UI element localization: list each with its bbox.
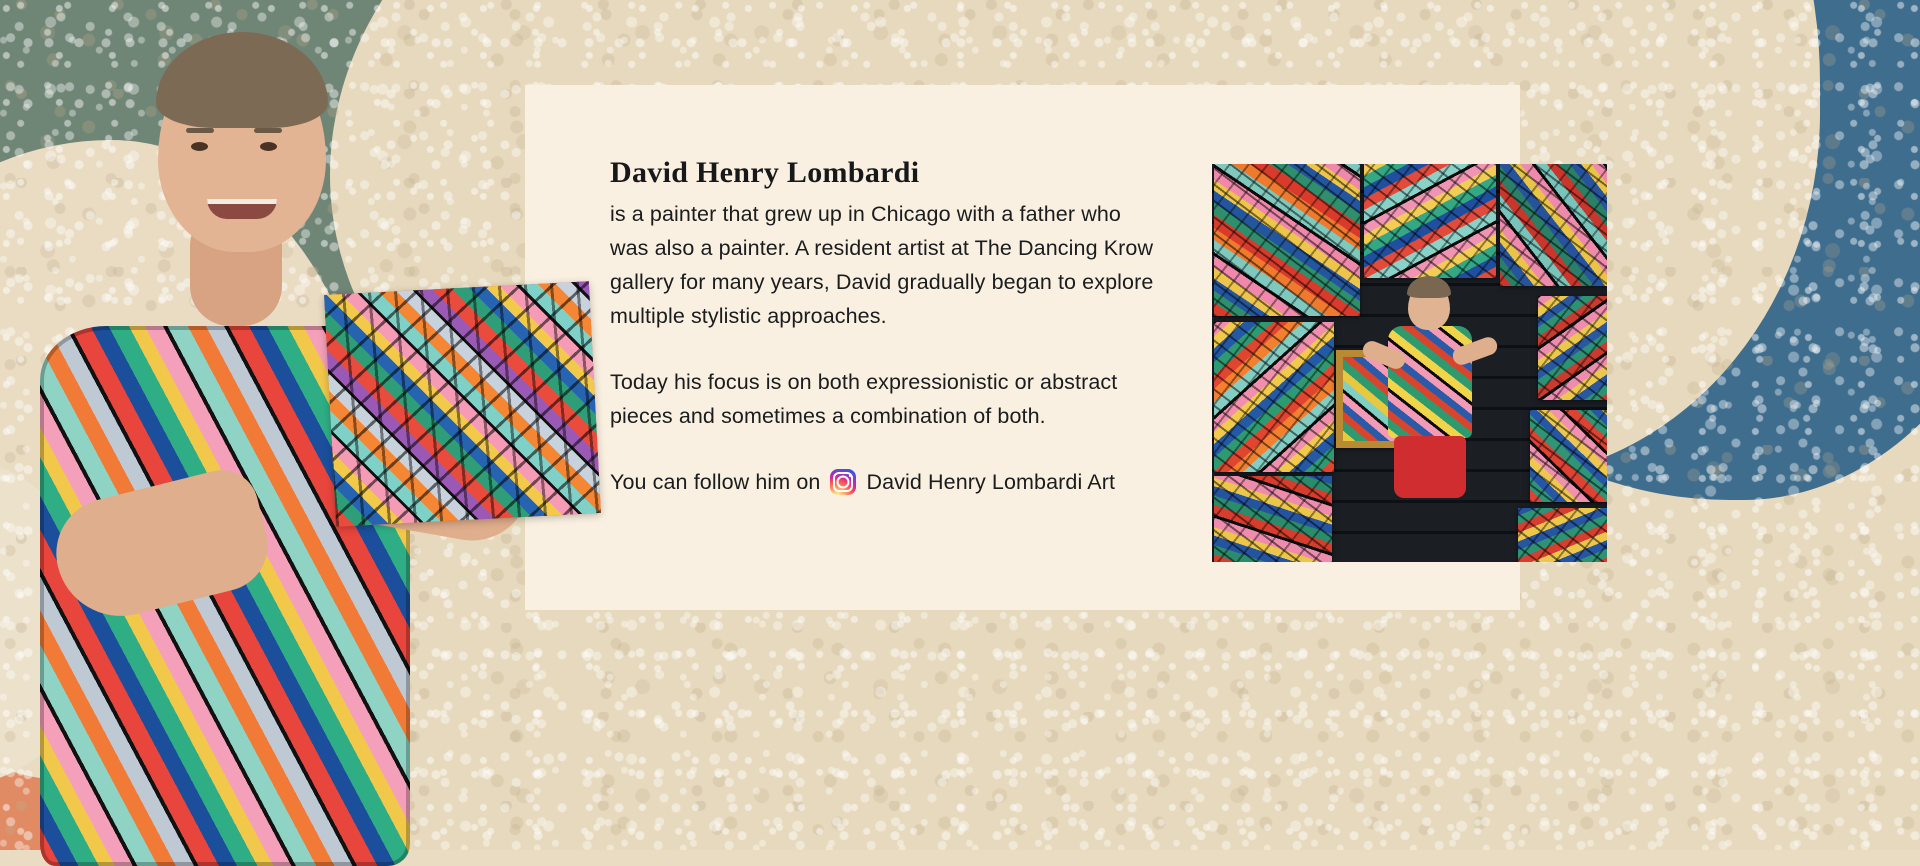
gallery-artwork — [1364, 164, 1496, 278]
instagram-follow-line: You can follow him on David Henry Lombar… — [610, 465, 1155, 499]
bio-paragraph-1: is a painter that grew up in Chicago wit… — [610, 197, 1155, 333]
held-painting-artwork — [324, 281, 601, 527]
gallery-artwork — [1500, 164, 1607, 286]
artist-eye-right — [260, 142, 277, 151]
gallery-artist-shorts — [1394, 436, 1466, 498]
gallery-artwork — [1530, 410, 1607, 502]
gallery-artist-shirt — [1388, 326, 1472, 438]
follow-prefix-label: You can follow him on — [610, 465, 820, 499]
artist-hair — [156, 32, 328, 128]
gallery-photo — [1212, 164, 1607, 562]
instagram-icon-lens — [837, 476, 850, 489]
instagram-icon[interactable] — [830, 469, 856, 495]
artist-mouth — [207, 199, 277, 219]
instagram-handle-link[interactable]: David Henry Lombardi Art — [866, 465, 1115, 499]
gallery-artwork — [1214, 164, 1360, 316]
artist-eye-left — [191, 142, 208, 151]
gallery-artwork — [1518, 508, 1607, 562]
artist-eyebrow-right — [254, 128, 282, 133]
gallery-artwork — [1538, 296, 1607, 400]
artist-eyebrow-left — [186, 128, 214, 133]
bio-card-content: David Henry Lombardi is a painter that g… — [610, 155, 1155, 499]
gallery-artwork — [1214, 476, 1332, 562]
page-title: David Henry Lombardi — [610, 155, 1155, 191]
gallery-artwork — [1214, 322, 1334, 472]
bio-paragraph-2: Today his focus is on both expressionist… — [610, 365, 1155, 433]
